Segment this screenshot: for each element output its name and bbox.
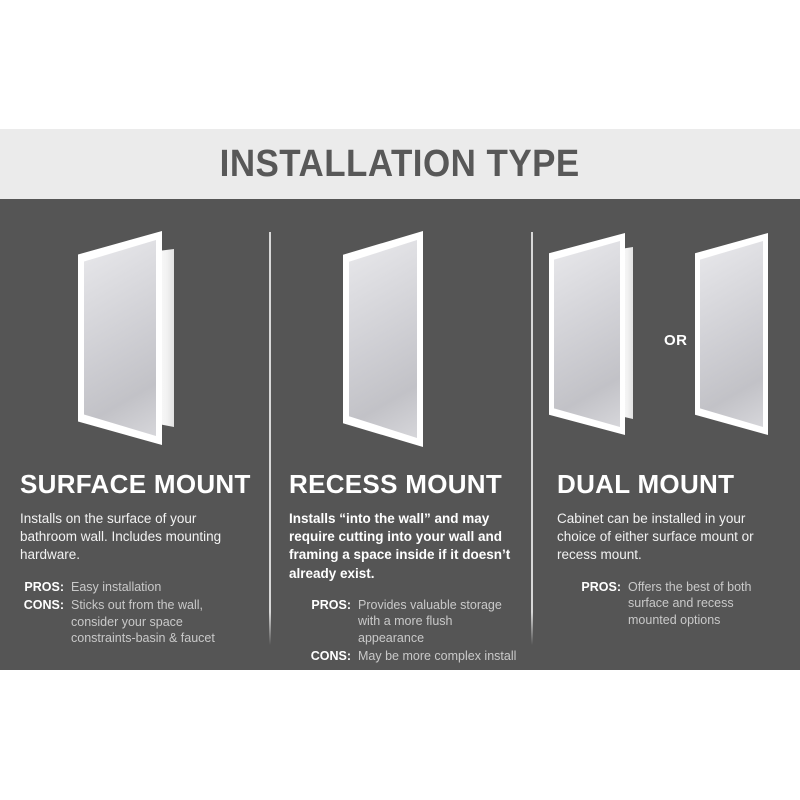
pros-label: PROS: — [573, 579, 621, 596]
cons-row: CONS: Sticks out from the wall, consider… — [20, 597, 247, 647]
pros-row: PROS: Offers the best of both surface an… — [573, 579, 780, 629]
pros-row: PROS: Easy installation — [20, 579, 247, 596]
recess-mount-text-block: RECESS MOUNT Installs “into the wall” an… — [271, 471, 531, 667]
pros-label: PROS: — [20, 579, 64, 596]
surface-mount-pros-cons-list: PROS: Easy installation CONS: Sticks out… — [20, 579, 247, 647]
recess-mount-intro: Installs “into the wall” and may require… — [289, 510, 517, 583]
dual-mount-recess-cabinet-illustration — [695, 233, 787, 423]
pros-value: Offers the best of both surface and rece… — [628, 579, 780, 629]
cabinet-mirror-surface — [700, 241, 763, 427]
dual-mount-pros-cons-list: PROS: Offers the best of both surface an… — [573, 579, 780, 629]
dual-mount-intro: Cabinet can be installed in your choice … — [557, 510, 780, 565]
recess-mount-pros-cons-list: PROS: Provides valuable storage with a m… — [301, 597, 517, 665]
dual-mount-text-block: DUAL MOUNT Cabinet can be installed in y… — [533, 471, 800, 630]
column-surface-mount: SURFACE MOUNT Installs on the surface of… — [0, 199, 269, 670]
surface-mount-cabinet-illustration — [78, 231, 200, 426]
title-banner: INSTALLATION TYPE — [0, 129, 800, 199]
dual-mount-illustration-area: OR — [533, 199, 800, 449]
cabinet-mirror-surface — [554, 241, 620, 427]
pros-label: PROS: — [301, 597, 351, 614]
column-dual-mount: OR DUAL MOUNT Cabinet can be installed i… — [533, 199, 800, 670]
page-title: INSTALLATION TYPE — [220, 143, 580, 186]
cons-value: Sticks out from the wall, consider your … — [71, 597, 247, 647]
recess-mount-illustration-area — [271, 199, 531, 449]
or-separator-label: OR — [664, 332, 688, 349]
surface-mount-intro: Installs on the surface of your bathroom… — [20, 510, 247, 565]
column-recess-mount: RECESS MOUNT Installs “into the wall” an… — [271, 199, 531, 670]
cons-label: CONS: — [20, 597, 64, 614]
cabinet-mirror-surface — [349, 240, 417, 438]
pros-value: Provides valuable storage with a more fl… — [358, 597, 517, 647]
cons-row: CONS: May be more complex install — [301, 648, 517, 665]
dual-mount-heading: DUAL MOUNT — [557, 471, 780, 497]
recess-mount-heading: RECESS MOUNT — [289, 471, 517, 497]
recess-mount-cabinet-illustration — [343, 231, 453, 426]
surface-mount-text-block: SURFACE MOUNT Installs on the surface of… — [0, 471, 269, 649]
pros-row: PROS: Provides valuable storage with a m… — [301, 597, 517, 647]
cons-label: CONS: — [301, 648, 351, 665]
surface-mount-illustration-area — [0, 199, 269, 449]
pros-value: Easy installation — [71, 579, 247, 596]
dual-mount-surface-cabinet-illustration — [549, 233, 661, 423]
surface-mount-heading: SURFACE MOUNT — [20, 471, 247, 497]
cons-value: May be more complex install — [358, 648, 517, 665]
cabinet-mirror-surface — [84, 240, 156, 436]
